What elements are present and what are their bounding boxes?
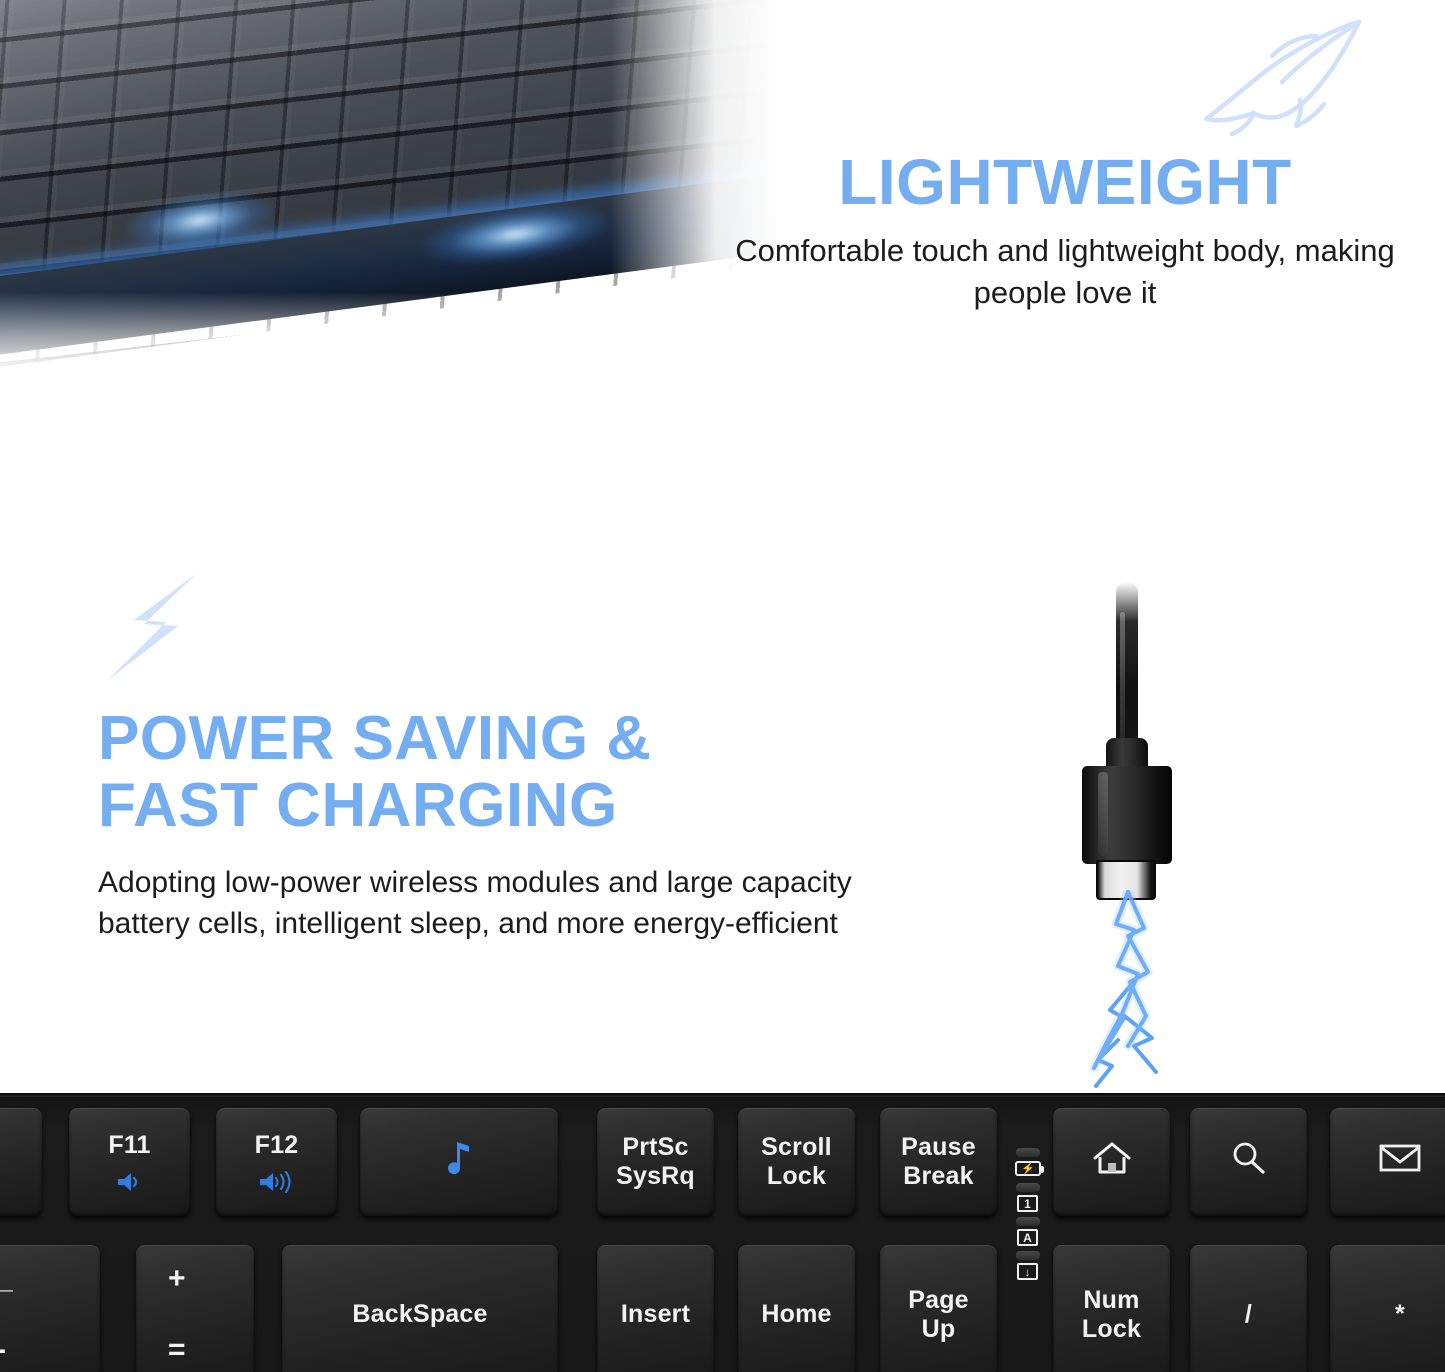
- mail-icon: [1379, 1143, 1421, 1181]
- key-multiply-label: *: [1395, 1300, 1405, 1330]
- led-dot: [1016, 1148, 1040, 1157]
- key-minus-underscore-line2: -: [0, 1332, 6, 1367]
- key-insert[interactable]: Insert: [597, 1245, 714, 1372]
- led-scroll-lock-glyph: ↓: [1025, 1265, 1031, 1279]
- lightning-bolt-icon: [104, 572, 208, 682]
- led-caps-lock: A: [1017, 1229, 1038, 1246]
- key-page-up-line2: Up: [922, 1315, 956, 1345]
- key-backspace[interactable]: BackSpace: [282, 1245, 558, 1372]
- key-minus-underscore[interactable]: _ -: [0, 1245, 100, 1372]
- photo-fade-bottom: [0, 292, 780, 382]
- key-home[interactable]: Home: [738, 1245, 855, 1372]
- key-divide-label: /: [1245, 1300, 1252, 1330]
- key-page-up-line1: Page: [908, 1286, 969, 1316]
- key-print-screen-line2: SysRq: [616, 1162, 695, 1192]
- key-num-lock-line2: Lock: [1082, 1315, 1141, 1345]
- usb-c-cable-image: [1020, 560, 1260, 1100]
- led-dot: [1016, 1251, 1040, 1260]
- key-plus-equals[interactable]: + =: [136, 1245, 254, 1372]
- key-scroll-lock[interactable]: Scroll Lock: [738, 1108, 855, 1216]
- key-page-up[interactable]: Page Up: [880, 1245, 997, 1372]
- key-divide[interactable]: /: [1190, 1245, 1307, 1372]
- power-saving-subcopy: Adopting low-power wireless modules and …: [98, 862, 858, 945]
- key-print-screen-line1: PrtSc: [622, 1133, 688, 1163]
- feature-lightweight: LIGHTWEIGHT Comfortable touch and lightw…: [735, 150, 1395, 314]
- key-backspace-label: BackSpace: [352, 1300, 487, 1330]
- feature-power-saving: POWER SAVING & FAST CHARGING Adopting lo…: [98, 706, 858, 945]
- key-multiply[interactable]: *: [1330, 1245, 1445, 1372]
- search-icon: [1230, 1140, 1268, 1184]
- lightweight-headline: LIGHTWEIGHT: [735, 150, 1395, 214]
- keyboard-closeup-photo: [0, 0, 780, 382]
- key-minus-underscore-line1: _: [0, 1261, 13, 1296]
- cable-cord: [1116, 582, 1138, 762]
- power-saving-headline-line2: FAST CHARGING: [98, 773, 858, 840]
- led-indicator-strip: ⚡ 1 A ↓: [1014, 1148, 1050, 1284]
- usb-c-connector-housing: [1082, 766, 1172, 864]
- key-f12-label: F12: [255, 1131, 299, 1161]
- key-search-shortcut[interactable]: [1190, 1108, 1307, 1216]
- key-pause-break-line1: Pause: [901, 1133, 976, 1163]
- key-media-music[interactable]: [360, 1108, 558, 1216]
- key-num-lock[interactable]: Num Lock: [1053, 1245, 1170, 1372]
- key-plus-equals-line1: +: [168, 1261, 186, 1296]
- key-scroll-lock-line1: Scroll: [761, 1133, 832, 1163]
- led-dot: [1016, 1217, 1040, 1226]
- key-pause-break[interactable]: Pause Break: [880, 1108, 997, 1216]
- led-battery: ⚡: [1015, 1161, 1041, 1176]
- key-pause-break-line2: Break: [903, 1162, 974, 1192]
- home-icon: [1092, 1141, 1132, 1183]
- key-partial-left[interactable]: [0, 1108, 42, 1216]
- lightweight-subcopy: Comfortable touch and lightweight body, …: [735, 230, 1395, 314]
- volume-up-icon: [258, 1171, 296, 1193]
- feather-icon: [1196, 18, 1364, 148]
- led-battery-glyph: ⚡: [1021, 1162, 1035, 1175]
- key-f12[interactable]: F12: [216, 1108, 337, 1216]
- key-num-lock-line1: Num: [1083, 1286, 1139, 1316]
- key-f11-label: F11: [108, 1131, 150, 1161]
- key-print-screen[interactable]: PrtSc SysRq: [597, 1108, 714, 1216]
- key-home-label: Home: [761, 1300, 831, 1330]
- music-note-icon: [444, 1138, 474, 1186]
- key-plus-equals-line2: =: [168, 1332, 186, 1367]
- key-insert-label: Insert: [621, 1300, 690, 1330]
- led-num-lock-glyph: 1: [1024, 1197, 1031, 1211]
- led-num-lock: 1: [1017, 1195, 1038, 1212]
- key-f11[interactable]: F11: [69, 1108, 190, 1216]
- power-saving-headline: POWER SAVING & FAST CHARGING: [98, 706, 858, 840]
- led-caps-lock-glyph: A: [1023, 1231, 1032, 1245]
- electric-arc-icon: [1068, 890, 1218, 1090]
- product-feature-page: LIGHTWEIGHT Comfortable touch and lightw…: [0, 0, 1445, 1372]
- key-mail-shortcut[interactable]: [1330, 1108, 1445, 1216]
- led-scroll-lock: ↓: [1017, 1263, 1038, 1280]
- key-scroll-lock-line2: Lock: [767, 1162, 826, 1192]
- key-home-shortcut[interactable]: [1053, 1108, 1170, 1216]
- volume-down-icon: [116, 1171, 144, 1193]
- keyboard-keys-strip: F11 F12: [0, 1093, 1445, 1372]
- led-dot: [1016, 1183, 1040, 1192]
- power-saving-headline-line1: POWER SAVING &: [98, 706, 858, 773]
